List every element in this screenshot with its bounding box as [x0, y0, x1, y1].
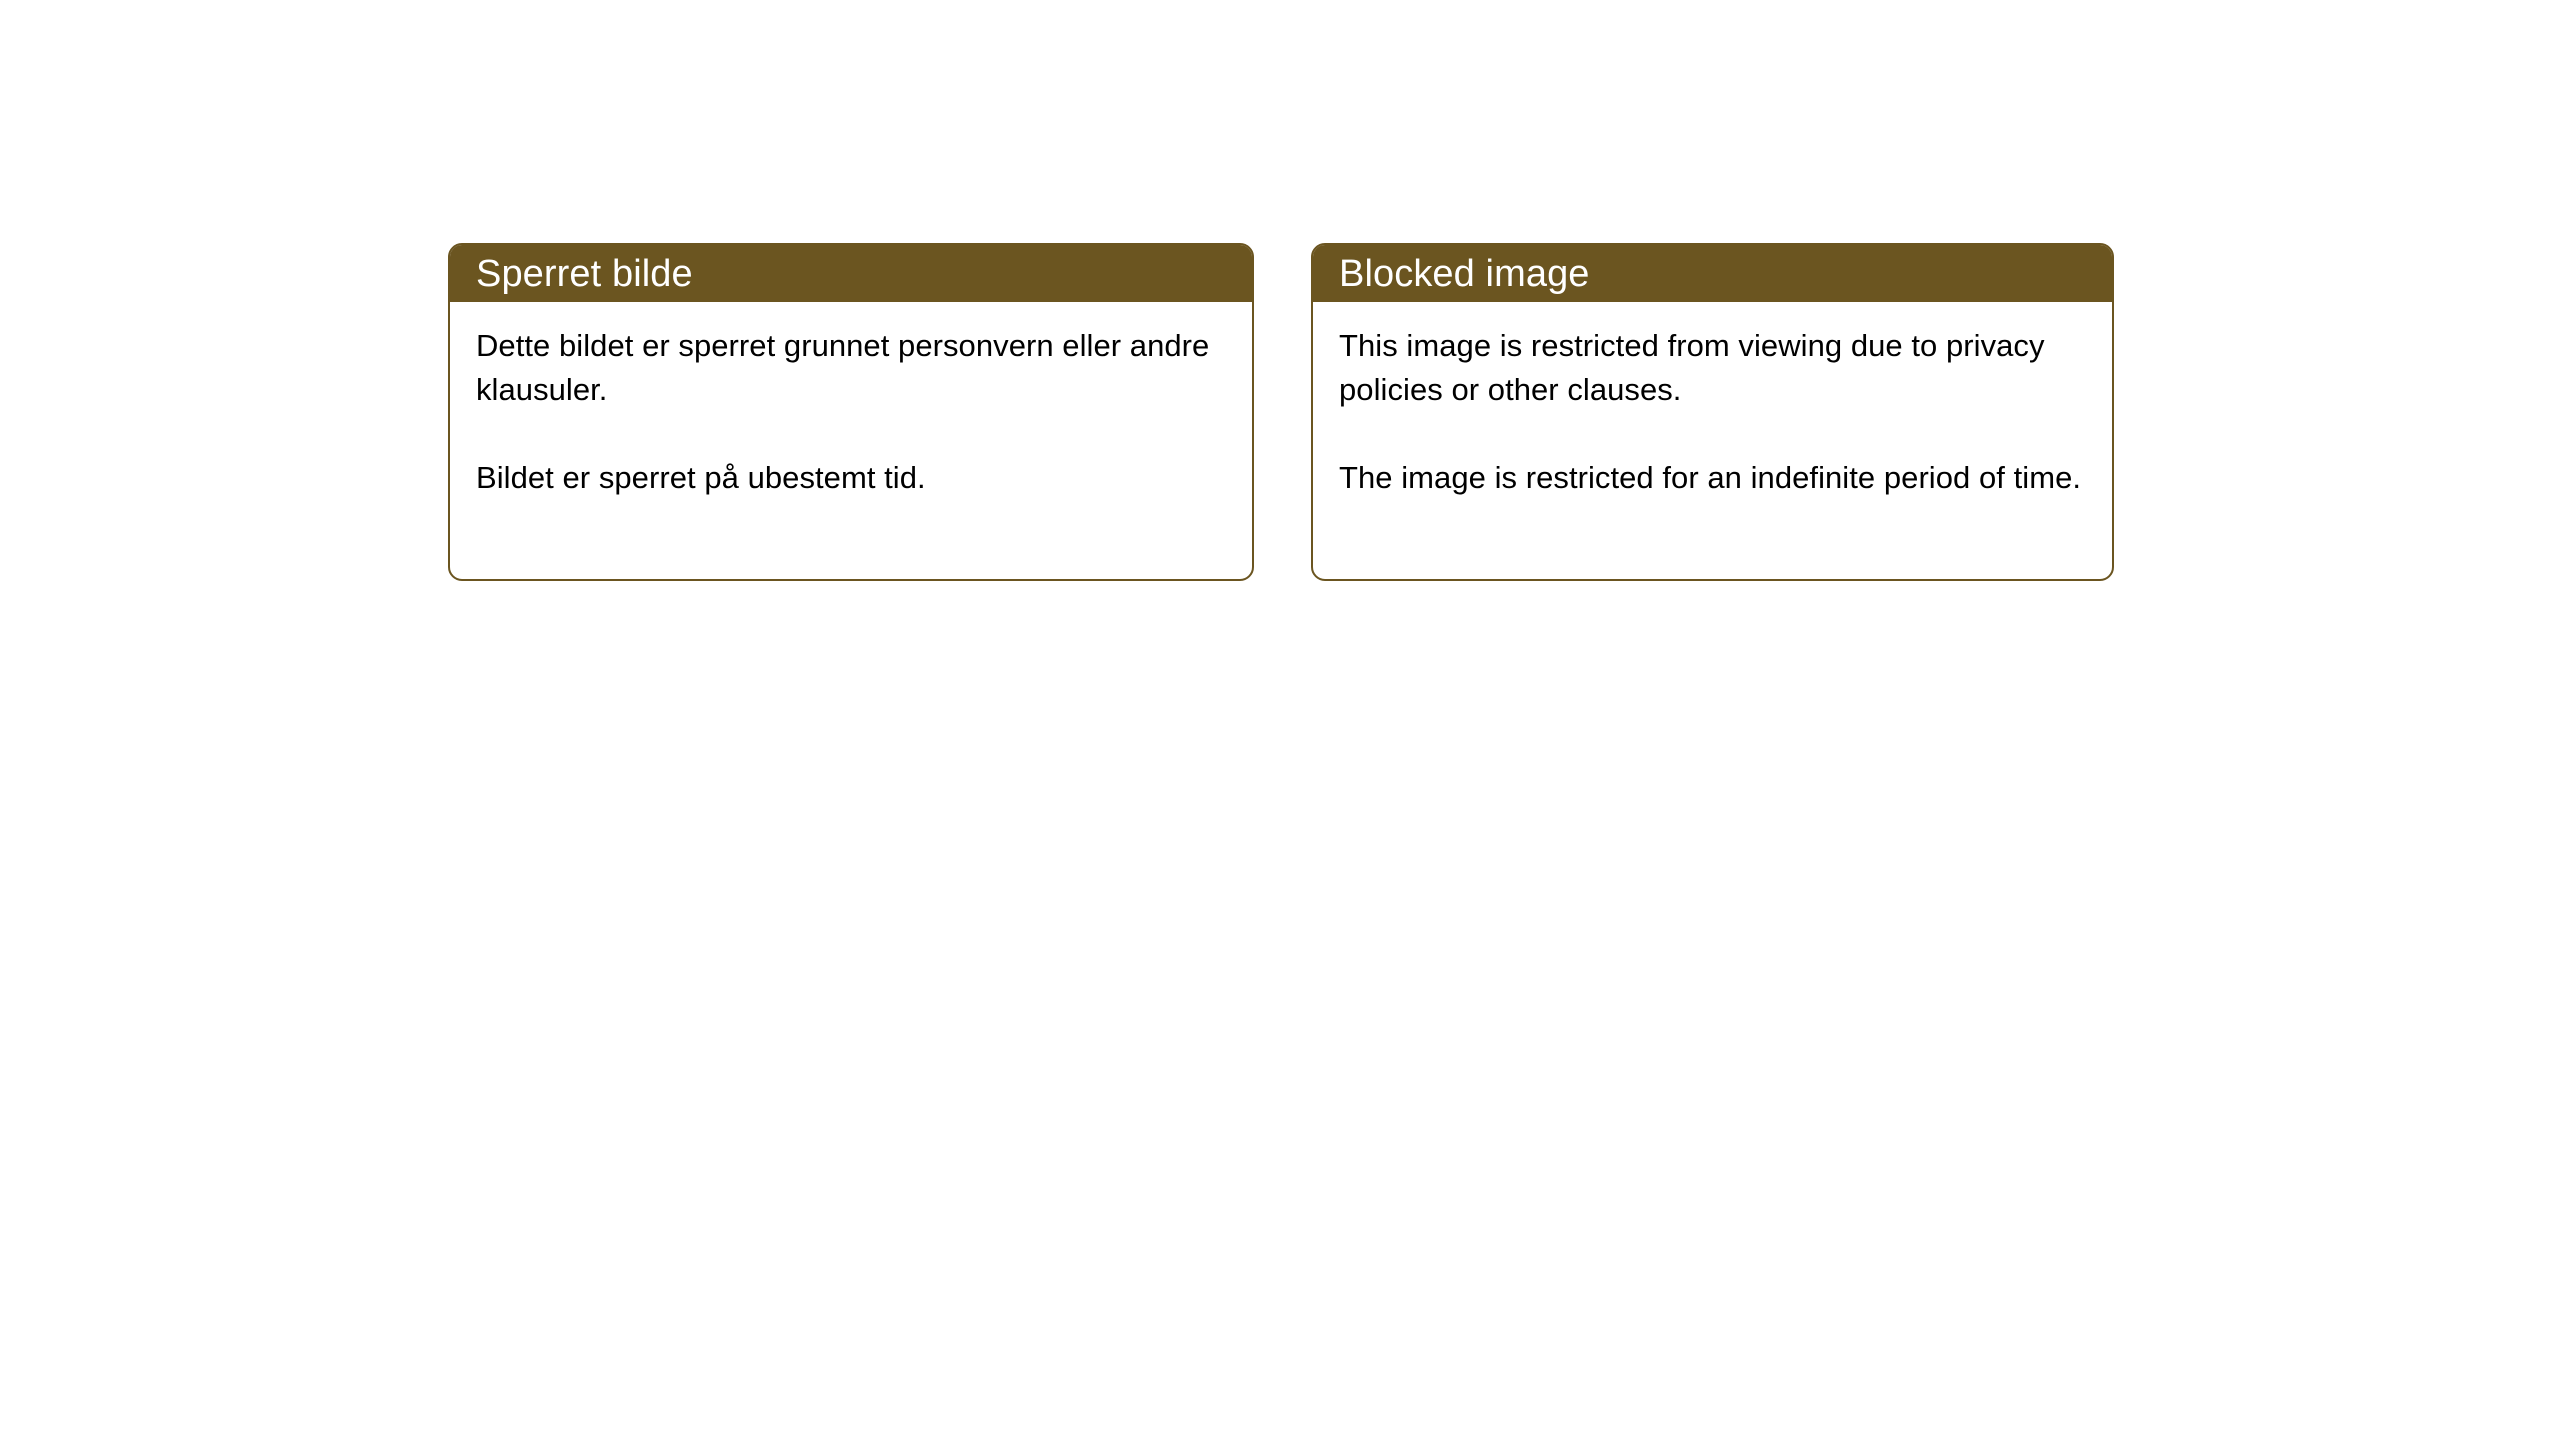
- paragraph-spacer: [1339, 412, 2086, 456]
- card-body-english: This image is restricted from viewing du…: [1313, 302, 2112, 500]
- card-paragraph-secondary-norwegian: Bildet er sperret på ubestemt tid.: [476, 456, 1226, 500]
- card-title-norwegian: Sperret bilde: [476, 252, 693, 296]
- page-canvas: Sperret bilde Dette bildet er sperret gr…: [0, 0, 2560, 1440]
- blocked-image-card-english: Blocked image This image is restricted f…: [1311, 243, 2114, 581]
- card-title-english: Blocked image: [1339, 252, 1590, 296]
- paragraph-spacer: [476, 412, 1226, 456]
- card-header-norwegian: Sperret bilde: [450, 245, 1252, 302]
- blocked-image-card-norwegian: Sperret bilde Dette bildet er sperret gr…: [448, 243, 1254, 581]
- card-body-norwegian: Dette bildet er sperret grunnet personve…: [450, 302, 1252, 500]
- card-paragraph-secondary-english: The image is restricted for an indefinit…: [1339, 456, 2086, 500]
- card-paragraph-primary-english: This image is restricted from viewing du…: [1339, 324, 2086, 412]
- card-header-english: Blocked image: [1313, 245, 2112, 302]
- card-paragraph-primary-norwegian: Dette bildet er sperret grunnet personve…: [476, 324, 1226, 412]
